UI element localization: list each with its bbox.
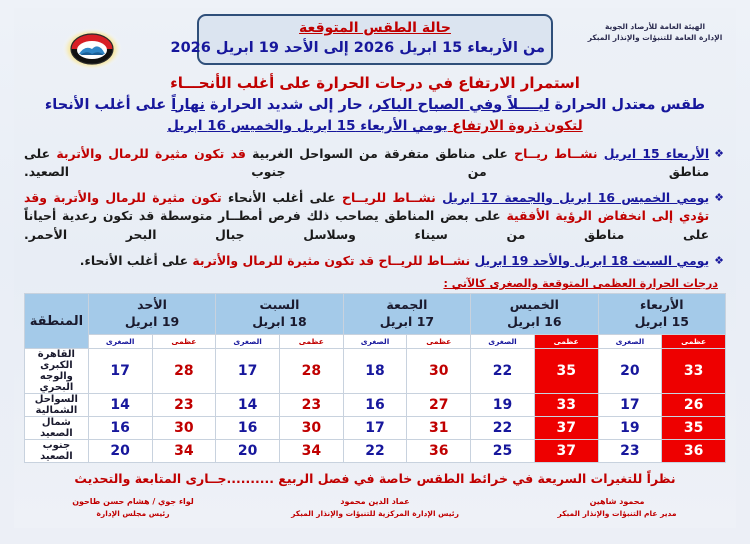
egypt-meteorological-authority-logo: [58, 25, 126, 73]
cell-max-temp: 34: [279, 440, 343, 463]
bullet-marker-icon: ❖: [714, 189, 724, 206]
intro-block: استمرار الارتفاع في درجات الحرارة على أغ…: [14, 72, 736, 137]
bullet-segment: يومي الخميس 16 ابريل والجمعة 17 ابريل: [442, 190, 709, 205]
cell-min-temp: 17: [216, 349, 280, 394]
organization-name: الهيئة العامة للأرصاد الجوية الإدارة الع…: [580, 22, 730, 44]
cell-max-temp: 35: [534, 349, 598, 394]
cell-region-name: القاهرة الكبرى والوجه البحري: [25, 349, 89, 394]
cell-min-temp: 22: [471, 417, 535, 440]
intro-headline: استمرار الارتفاع في درجات الحرارة على أغ…: [14, 72, 736, 95]
bullet-segment: نشــاط للريــاح: [342, 190, 436, 205]
bullet-segment: على مناطق متفرقة من السواحل الغربية: [246, 146, 514, 161]
day-date: 16 ابريل: [471, 314, 597, 331]
table-caption: درجات الحرارة العظمى المتوقعة والصغرى كا…: [14, 277, 718, 290]
bullet-text: يومي الخميس 16 ابريل والجمعة 17 ابريل نش…: [24, 189, 709, 245]
table-subheader-min: الصغرى: [88, 335, 152, 349]
cell-min-temp: 18: [343, 349, 407, 394]
intro-summary-d: نهاراً: [171, 97, 205, 113]
day-date: 18 ابريل: [216, 314, 342, 331]
cell-min-temp: 20: [598, 349, 662, 394]
cell-max-temp: 33: [534, 394, 598, 417]
table-subheader-max: عظمى: [152, 335, 216, 349]
day-date: 15 ابريل: [599, 314, 725, 331]
bullet-text: يومي السبت 18 ابريل والأحد 19 ابريل نشــ…: [24, 252, 709, 271]
cell-region-name: شمال الصعيد: [25, 417, 89, 440]
day-name: الأحد: [89, 297, 215, 314]
cell-min-temp: 19: [598, 417, 662, 440]
cell-max-temp: 31: [407, 417, 471, 440]
forecast-bullet: ❖يومي الخميس 16 ابريل والجمعة 17 ابريل ن…: [24, 189, 724, 245]
table-region-header: المنطقة: [25, 294, 89, 349]
cell-min-temp: 22: [471, 349, 535, 394]
day-name: الخميس: [471, 297, 597, 314]
table-row: 36233725362234203420جنوب الصعيد: [25, 440, 726, 463]
cell-max-temp: 23: [152, 394, 216, 417]
table-day-header: الأربعاء15 ابريل: [598, 294, 725, 335]
cell-min-temp: 23: [598, 440, 662, 463]
cell-max-temp: 35: [662, 417, 726, 440]
intro-peak-a: لتكون ذروة الارتفاع: [448, 118, 583, 134]
signature-block: محمود شاهينمدير عام التنبؤات والإنذار ال…: [512, 496, 722, 519]
cell-max-temp: 26: [662, 394, 726, 417]
signature-role: رئيس مجلس الإدارة: [28, 508, 238, 519]
signature-name: عماد الدين محمود: [270, 496, 480, 508]
cell-min-temp: 16: [88, 417, 152, 440]
cell-max-temp: 28: [152, 349, 216, 394]
intro-summary-b: ليــــلاً وفي الصباح الباكر: [373, 97, 549, 113]
org-line-1: الهيئة العامة للأرصاد الجوية: [580, 22, 730, 33]
update-note: نظراً للتغيرات السريعة في خرائط الطقس خا…: [14, 471, 736, 486]
intro-summary-c: ، حار إلى شديد الحرارة: [205, 97, 373, 113]
cell-min-temp: 20: [216, 440, 280, 463]
signature-name: محمود شاهين: [512, 496, 722, 508]
forecast-title-box: حالة الطقس المتوقعة من الأربعاء 15 ابريل…: [197, 14, 553, 65]
table-subheader-min: الصغرى: [471, 335, 535, 349]
table-row: 33203522301828172817القاهرة الكبرى والوج…: [25, 349, 726, 394]
table-subheader-max: عظمى: [407, 335, 471, 349]
table-day-header: الأحد19 ابريل: [88, 294, 215, 335]
table-subheader-max: عظمى: [279, 335, 343, 349]
cell-min-temp: 22: [343, 440, 407, 463]
bullet-segment: نشــاط ريــاح: [514, 146, 597, 161]
table-subheader-max: عظمى: [534, 335, 598, 349]
table-head: الأربعاء15 ابريلالخميس16 ابريلالجمعة17 ا…: [25, 294, 726, 349]
document-page: الهيئة العامة للأرصاد الجوية الإدارة الع…: [0, 0, 750, 544]
bullet-marker-icon: ❖: [714, 252, 724, 269]
forecast-sheet: الهيئة العامة للأرصاد الجوية الإدارة الع…: [14, 8, 736, 528]
cell-max-temp: 37: [534, 417, 598, 440]
cell-min-temp: 14: [216, 394, 280, 417]
cell-min-temp: 19: [471, 394, 535, 417]
bullet-segment: على أغلب الأنحاء.: [80, 253, 193, 268]
cell-max-temp: 23: [279, 394, 343, 417]
day-date: 19 ابريل: [89, 314, 215, 331]
cell-min-temp: 17: [88, 349, 152, 394]
table-row: 26173319271623142314السواحل الشمالية: [25, 394, 726, 417]
cell-max-temp: 34: [152, 440, 216, 463]
cell-region-name: السواحل الشمالية: [25, 394, 89, 417]
cell-max-temp: 36: [407, 440, 471, 463]
intro-peak-b: يومي الأربعاء 15 ابريل والخميس 16 ابريل: [167, 118, 447, 134]
signature-block: عماد الدين محمودرئيس الإدارة المركزية لل…: [270, 496, 480, 519]
table-row: 35193722311730163016شمال الصعيد: [25, 417, 726, 440]
cell-min-temp: 16: [343, 394, 407, 417]
temperature-table-wrapper: الأربعاء15 ابريلالخميس16 ابريلالجمعة17 ا…: [24, 293, 726, 463]
bullet-segment: الأربعاء 15 ابريل: [604, 146, 709, 161]
bullet-text: الأربعاء 15 ابريل نشــاط ريــاح على مناط…: [24, 145, 709, 182]
cell-max-temp: 27: [407, 394, 471, 417]
table-day-header: الجمعة17 ابريل: [343, 294, 470, 335]
table-head-sub-row: عظمىالصغرىعظمىالصغرىعظمىالصغرىعظمىالصغرى…: [25, 335, 726, 349]
org-line-2: الإدارة العامة للتنبؤات والإنذار المبكر: [580, 33, 730, 44]
signature-role: مدير عام التنبؤات والإنذار المبكر: [512, 508, 722, 519]
day-name: الجمعة: [344, 297, 470, 314]
signature-footer: محمود شاهينمدير عام التنبؤات والإنذار ال…: [28, 496, 722, 519]
intro-peak: لتكون ذروة الارتفاع يومي الأربعاء 15 ابر…: [14, 116, 736, 136]
day-name: السبت: [216, 297, 342, 314]
intro-summary: طقس معتدل الحرارة ليــــلاً وفي الصباح ا…: [14, 95, 736, 117]
table-subheader-min: الصغرى: [343, 335, 407, 349]
intro-summary-a: طقس معتدل الحرارة: [550, 97, 706, 113]
intro-summary-e: على أغلب الأنحاء: [45, 97, 171, 113]
page-title: حالة الطقس المتوقعة: [205, 20, 545, 38]
document-header: الهيئة العامة للأرصاد الجوية الإدارة الع…: [14, 8, 736, 70]
table-subheader-min: الصغرى: [598, 335, 662, 349]
bullet-segment: نشــاط للريــاح قد تكون مثيرة للرمال وال…: [192, 253, 470, 268]
table-subheader-min: الصغرى: [216, 335, 280, 349]
cell-max-temp: 30: [407, 349, 471, 394]
bullet-segment: على أغلب الأنحاء: [222, 190, 342, 205]
forecast-date-range: من الأربعاء 15 ابريل 2026 إلى الأحد 19 ا…: [205, 39, 545, 58]
cell-min-temp: 17: [343, 417, 407, 440]
table-head-days-row: الأربعاء15 ابريلالخميس16 ابريلالجمعة17 ا…: [25, 294, 726, 335]
temperature-table: الأربعاء15 ابريلالخميس16 ابريلالجمعة17 ا…: [24, 293, 726, 463]
cell-min-temp: 20: [88, 440, 152, 463]
signature-block: لواء جوي / هشام حسن طاحونرئيس مجلس الإدا…: [28, 496, 238, 519]
forecast-bullet: ❖الأربعاء 15 ابريل نشــاط ريــاح على منا…: [24, 145, 724, 182]
table-day-header: الخميس16 ابريل: [471, 294, 598, 335]
bullet-marker-icon: ❖: [714, 145, 724, 162]
cell-max-temp: 33: [662, 349, 726, 394]
signature-name: لواء جوي / هشام حسن طاحون: [28, 496, 238, 508]
cell-min-temp: 16: [216, 417, 280, 440]
cell-min-temp: 17: [598, 394, 662, 417]
cell-max-temp: 30: [152, 417, 216, 440]
table-day-header: السبت18 ابريل: [216, 294, 343, 335]
bullet-segment: قد تكون مثيرة للرمال والأتربة: [56, 146, 246, 161]
table-body: 33203522301828172817القاهرة الكبرى والوج…: [25, 349, 726, 463]
day-date: 17 ابريل: [344, 314, 470, 331]
cell-min-temp: 25: [471, 440, 535, 463]
forecast-bullets: ❖الأربعاء 15 ابريل نشــاط ريــاح على منا…: [24, 145, 724, 271]
cell-max-temp: 36: [662, 440, 726, 463]
cell-max-temp: 30: [279, 417, 343, 440]
signature-role: رئيس الإدارة المركزية للتنبؤات والإنذار …: [270, 508, 480, 519]
cell-region-name: جنوب الصعيد: [25, 440, 89, 463]
table-subheader-max: عظمى: [662, 335, 726, 349]
bullet-segment: يومي السبت 18 ابريل والأحد 19 ابريل: [475, 253, 710, 268]
day-name: الأربعاء: [599, 297, 725, 314]
forecast-bullet: ❖يومي السبت 18 ابريل والأحد 19 ابريل نشـ…: [24, 252, 724, 271]
cell-max-temp: 37: [534, 440, 598, 463]
cell-min-temp: 14: [88, 394, 152, 417]
cell-max-temp: 28: [279, 349, 343, 394]
